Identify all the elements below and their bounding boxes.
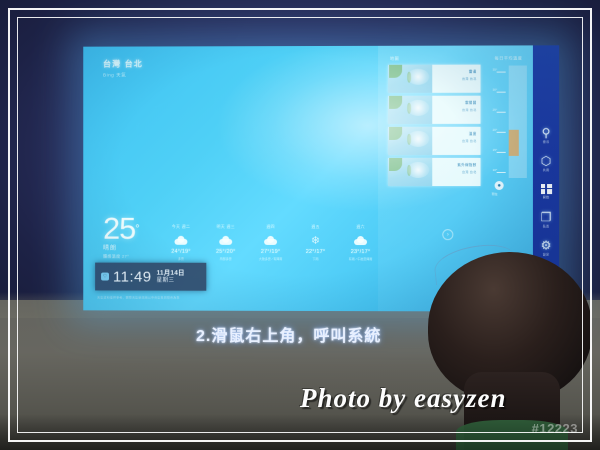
map-thumbnail-subtitle: 台灣 台北 [462,139,476,143]
photo-watermark: Photo by easyzen [300,383,506,414]
clock-time: 11:49 [113,268,152,285]
forecast-description: 局部多雲 [209,256,242,260]
forecast-day-label: 週五 [299,224,332,230]
forecast-day-label: 週四 [254,224,287,230]
charm-label: 搜尋 [543,139,549,143]
map-preview-image [388,65,432,93]
charm-share[interactable]: ⬡ 共用 [533,150,559,176]
forecast-high-low: 22°/17° [299,249,332,255]
heart-icon: ♡ [101,273,109,281]
scale-tick-label: 30° [493,88,498,92]
forecast-high-low: 23°/17° [344,249,377,255]
forecast-description: 多雲 [165,256,198,260]
forecast-strip: 今天 週二 24°/19° 多雲 明天 週三 25°/20° 局部多雲 週四 2… [165,224,378,261]
clock-weekday: 星期三 [157,277,185,283]
degree-symbol: ° [135,223,139,235]
forecast-description: 下雨 [299,256,332,260]
scale-header: 每日平均溫度 [495,55,523,61]
forecast-high-low: 24°/19° [165,249,198,255]
search-icon: ⚲ [542,126,551,138]
clock-date-block: 11月14日 星期三 [157,270,185,284]
cloud-icon [209,233,242,248]
charm-label: 裝置 [543,224,549,228]
temperature-scale[interactable]: 35° 30° 25° 20° 15° 10° [495,65,535,178]
maps-header: 地圖 [390,56,399,62]
map-thumbnail-title: 雲層圖 [465,101,476,106]
snowflake-icon: ❄ [299,233,332,248]
forecast-description: 大致多雲 / 有陣雨 [254,256,287,260]
settings-icon: ⚙ [541,239,552,251]
map-thumbnail-meta: 溫度 台灣 台北 [432,127,480,155]
forecast-day-label: 週六 [344,224,377,230]
cloud-icon [254,233,287,248]
charm-start[interactable]: 開始 [533,178,559,204]
map-thumbnail-title: 雷達 [469,70,477,75]
charm-search[interactable]: ⚲ 搜尋 [533,122,559,148]
map-thumbnail-subtitle: 台灣 台北 [462,170,476,174]
map-thumbnail-meta: 雲層圖 台灣 台北 [432,96,480,124]
photo-id-tag: #12223 [532,421,578,436]
map-thumbnail-list: 雷達 台灣 台北 雲層圖 台灣 台北 溫度 台灣 台北 [388,65,480,189]
scale-tick-label: 20° [493,128,498,132]
forecast-day[interactable]: 週六 23°/17° 有雨 / 午後雷陣雨 [344,224,377,261]
map-thumbnail-subtitle: 台灣 台北 [462,108,476,112]
scale-now-label: 現在 [492,192,498,196]
feels-like-temperature: 體感溫度 27° [103,255,140,259]
charm-label: 共用 [543,167,549,171]
scale-tick-label: 25° [493,108,498,112]
forecast-day[interactable]: 週五 ❄ 22°/17° 下雨 [299,224,332,261]
slide-caption: 2.滑鼠右上角，呼叫系統 [196,322,381,346]
forecast-high-low: 27°/19° [254,249,287,255]
current-temperature-block: 25° 晴朗 體感溫度 27° [103,213,140,259]
scale-tick-label: 10° [493,168,498,172]
map-thumbnail-meta: 雷達 台灣 台北 [432,65,480,93]
map-thumbnail-item[interactable]: 雷達 台灣 台北 [388,65,480,93]
forecast-day[interactable]: 今天 週二 24°/19° 多雲 [165,224,198,260]
cloud-icon [165,233,198,248]
scale-tick-label: 15° [493,148,498,152]
map-thumbnail-subtitle: 台灣 台北 [462,77,476,81]
weather-current-panel: 台灣 台北 Bing 天氣 25° 晴朗 體感溫度 27° 今天 週二 24°/… [83,46,378,311]
photograph: 台灣 台北 Bing 天氣 25° 晴朗 體感溫度 27° 今天 週二 24°/… [0,0,600,450]
devices-icon: ❐ [541,211,552,223]
windows-icon [540,184,551,194]
charm-devices[interactable]: ❐ 裝置 [533,206,559,232]
forecast-day-label: 明天 週三 [209,224,242,230]
location-name: 台灣 台北 [103,58,143,69]
current-condition: 晴朗 [103,246,140,252]
map-preview-image [388,158,432,186]
scale-now-indicator: ● [495,181,504,190]
forecast-high-low: 25°/20° [209,249,242,255]
weather-disclaimer: 天氣資料僅供參考，實際天氣狀況請以中央氣象局發布為準 [97,295,180,299]
scale-track [509,66,527,178]
location-block: 台灣 台北 Bing 天氣 [103,58,143,78]
map-thumbnail-item[interactable]: 溫度 台灣 台北 [388,127,480,155]
cloud-icon [344,233,377,248]
current-temperature-value: 25 [103,211,135,246]
scale-tick-label: 35° [493,68,498,72]
forecast-description: 有雨 / 午後雷陣雨 [344,257,377,261]
forecast-day-label: 今天 週二 [165,224,198,230]
forecast-day[interactable]: 週四 27°/19° 大致多雲 / 有陣雨 [254,224,287,261]
charm-label: 開始 [543,195,549,199]
map-thumbnail-item[interactable]: 紫外線指數 台灣 台北 [388,158,480,186]
map-thumbnail-meta: 紫外線指數 台灣 台北 [432,158,480,186]
weather-provider: Bing 天氣 [103,72,143,78]
map-preview-image [388,96,432,124]
map-preview-image [388,127,432,155]
clock-date: 11月14日 [157,270,185,278]
scale-marker [509,130,519,156]
clock-tile[interactable]: ♡ 11:49 11月14日 星期三 [95,263,206,291]
map-thumbnail-title: 溫度 [469,132,477,137]
map-thumbnail-title: 紫外線指數 [457,163,476,168]
share-icon: ⬡ [541,154,552,166]
map-thumbnail-item[interactable]: 雲層圖 台灣 台北 [388,96,480,124]
forecast-day[interactable]: 明天 週三 25°/20° 局部多雲 [209,224,242,260]
